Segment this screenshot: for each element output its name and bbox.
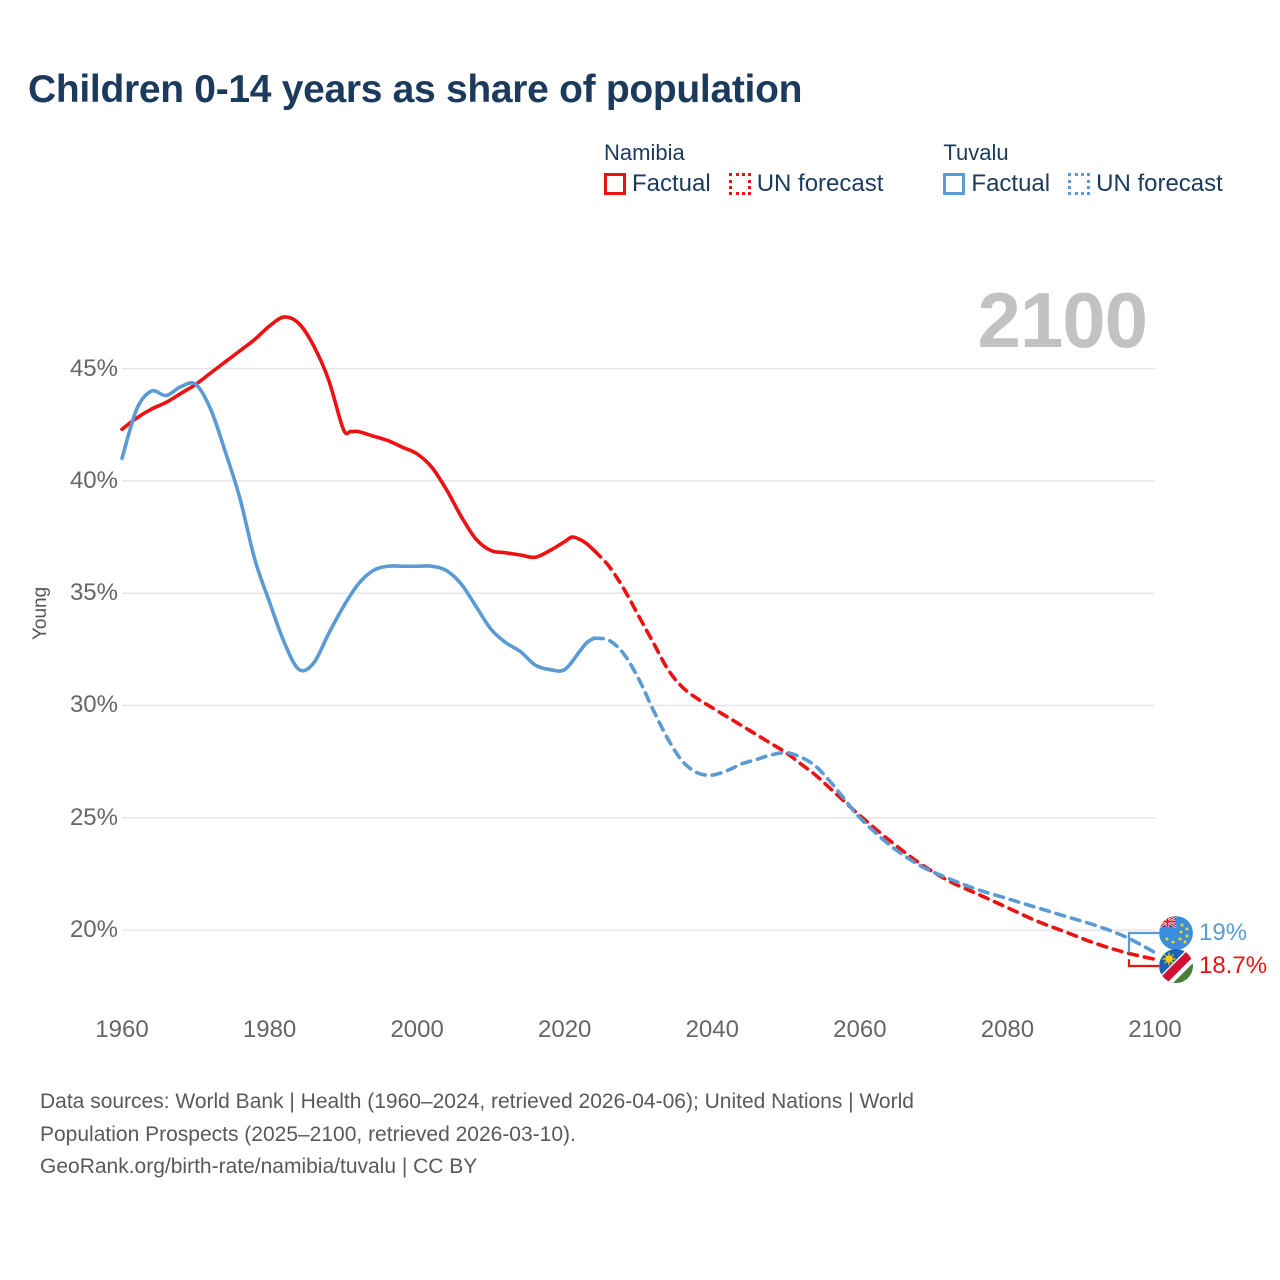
namibia-flag-icon xyxy=(1159,949,1193,983)
tuvalu-flag-icon xyxy=(1159,916,1193,950)
legend-label-tuvalu-factual: Factual xyxy=(971,172,1050,196)
end-label-namibia: 18.7% xyxy=(1199,954,1267,978)
x-tick-label: 2100 xyxy=(1128,1018,1181,1042)
footer-line-2: Population Prospects (2025–2100, retriev… xyxy=(40,1119,1190,1152)
legend-swatch-solid-blue-icon xyxy=(943,173,965,195)
legend-item-tuvalu-factual[interactable]: Factual xyxy=(943,172,1050,196)
end-connector-tuvalu xyxy=(1129,933,1159,953)
watermark-year: 2100 xyxy=(977,281,1147,359)
footer-sources: Data sources: World Bank | Health (1960–… xyxy=(40,1086,1190,1184)
y-tick-label: 25% xyxy=(70,806,118,830)
x-tick-label: 2020 xyxy=(538,1018,591,1042)
legend-label-tuvalu-forecast: UN forecast xyxy=(1096,172,1223,196)
legend-group-tuvalu: Tuvalu Factual UN forecast xyxy=(943,142,1222,196)
y-tick-label: 45% xyxy=(70,357,118,381)
series-line-tuvalu-forecast xyxy=(594,638,1155,952)
y-tick-label: 35% xyxy=(70,581,118,605)
page-title: Children 0-14 years as share of populati… xyxy=(28,68,802,112)
legend-swatch-solid-red-icon xyxy=(604,173,626,195)
end-label-tuvalu: 19% xyxy=(1199,921,1247,945)
x-tick-label: 1980 xyxy=(243,1018,296,1042)
end-connectors xyxy=(1129,933,1159,966)
x-tick-label: 2080 xyxy=(981,1018,1034,1042)
y-tick-label: 40% xyxy=(70,469,118,493)
legend-item-tuvalu-forecast[interactable]: UN forecast xyxy=(1068,172,1223,196)
legend-swatch-dotted-red-icon xyxy=(729,173,751,195)
legend-group-title-namibia: Namibia xyxy=(604,142,883,164)
footer-line-3: GeoRank.org/birth-rate/namibia/tuvalu | … xyxy=(40,1151,1190,1184)
y-tick-label: 20% xyxy=(70,918,118,942)
footer-line-1: Data sources: World Bank | Health (1960–… xyxy=(40,1086,1190,1119)
legend-label-namibia-factual: Factual xyxy=(632,172,711,196)
legend-swatch-dotted-blue-icon xyxy=(1068,173,1090,195)
series-line-namibia-factual xyxy=(122,317,594,558)
series-line-namibia-forecast xyxy=(594,551,1155,960)
end-connector-namibia xyxy=(1129,959,1159,966)
legend-item-namibia-forecast[interactable]: UN forecast xyxy=(729,172,884,196)
x-tick-label: 2040 xyxy=(686,1018,739,1042)
x-tick-label: 2000 xyxy=(390,1018,443,1042)
legend-group-title-tuvalu: Tuvalu xyxy=(943,142,1222,164)
gridlines xyxy=(122,369,1155,930)
x-tick-label: 2060 xyxy=(833,1018,886,1042)
chart-legend: Namibia Factual UN forecast Tuvalu Factu… xyxy=(604,142,1223,196)
legend-label-namibia-forecast: UN forecast xyxy=(757,172,884,196)
y-axis-title: Young xyxy=(30,587,52,640)
series-line-tuvalu-factual xyxy=(122,383,594,671)
series-lines xyxy=(122,317,1155,959)
legend-group-namibia: Namibia Factual UN forecast xyxy=(604,142,883,196)
legend-item-namibia-factual[interactable]: Factual xyxy=(604,172,711,196)
x-tick-label: 1960 xyxy=(95,1018,148,1042)
y-tick-label: 30% xyxy=(70,693,118,717)
